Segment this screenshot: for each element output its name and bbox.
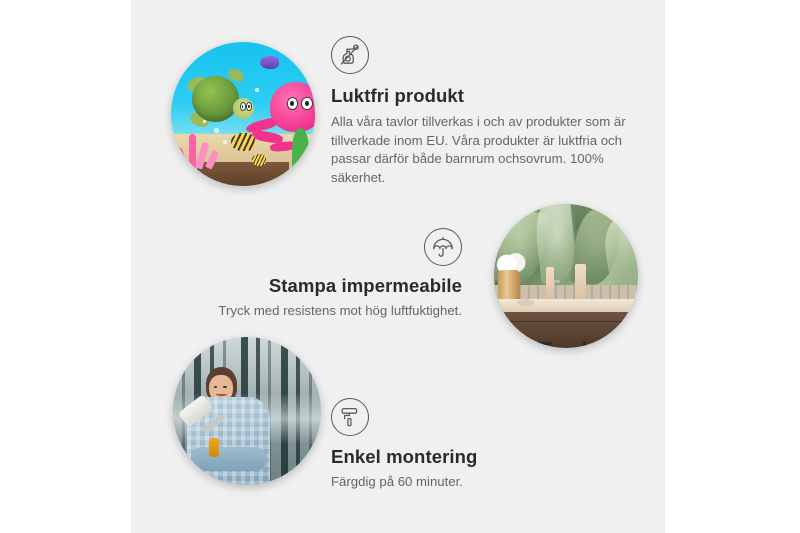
coral-branch — [175, 146, 188, 169]
turtle-shell — [192, 76, 239, 122]
feature-body: Färgdig på 60 minuter. — [331, 473, 611, 492]
bubble — [223, 140, 227, 144]
no-spray-bottle-icon — [331, 36, 369, 74]
feature-easy-mounting: Enkel montering Färgdig på 60 minuter. — [331, 398, 611, 492]
butterfly-fish — [231, 133, 254, 152]
seaweed — [292, 128, 309, 171]
octopus-eye — [301, 97, 313, 110]
woman-folded-arms — [191, 447, 266, 471]
wood-vanity-cabinet — [494, 312, 638, 348]
woman-eye — [214, 386, 217, 388]
woman-eye — [223, 386, 226, 388]
feature-body: Alla våra tavlor tillverkas i och av pro… — [331, 113, 631, 188]
paint-roller-icon — [331, 398, 369, 436]
woman-figure — [182, 367, 274, 485]
product-features-infographic: Luktfri produkt Alla våra tavlor tillver… — [0, 0, 800, 533]
turtle-figure — [188, 74, 251, 127]
coral-cluster — [177, 128, 220, 168]
octopus-eye — [287, 97, 299, 110]
candle — [575, 264, 587, 301]
paint-roller-grip — [209, 438, 219, 457]
stone-countertop — [494, 299, 638, 312]
bubble — [255, 88, 259, 92]
photo-underwater-scene — [171, 42, 315, 186]
feature-title: Luktfri produkt — [331, 85, 631, 107]
small-fish — [252, 154, 266, 166]
icon-wrapper — [190, 228, 462, 266]
coral-branch — [205, 150, 219, 170]
candle — [546, 267, 555, 299]
purple-fish — [260, 56, 279, 69]
drawer-handle — [520, 342, 552, 345]
woman-smile — [216, 393, 226, 396]
octopus-head — [270, 82, 315, 132]
feature-waterproof-print: Stampa impermeabile Tryck med resistens … — [190, 228, 462, 321]
photo-bathroom-tropical-wallpaper — [494, 204, 638, 348]
feature-body: Tryck med resistens mot hög luftfuktighe… — [190, 302, 462, 321]
feature-title: Stampa impermeabile — [190, 275, 462, 297]
feature-title: Enkel montering — [331, 446, 611, 468]
cabinet-seam — [494, 321, 638, 322]
door-handle — [618, 341, 621, 347]
umbrella-icon — [424, 228, 462, 266]
coral-branch — [189, 134, 196, 169]
photo-woman-with-paint-roller — [173, 337, 321, 485]
door-handle — [583, 341, 586, 347]
feature-odourless-product: Luktfri produkt Alla våra tavlor tillver… — [331, 36, 631, 188]
turtle-eye — [240, 102, 246, 111]
bubble — [203, 120, 206, 123]
